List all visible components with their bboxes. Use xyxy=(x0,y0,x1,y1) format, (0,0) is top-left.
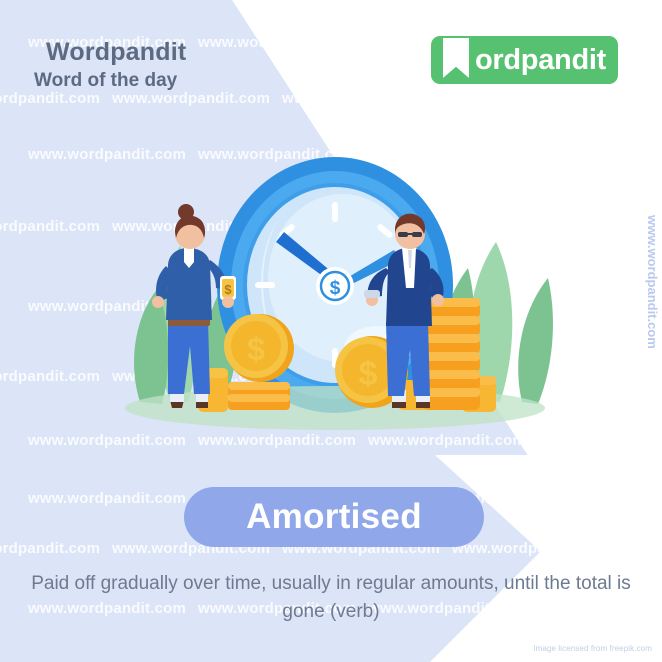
image-credit: Image licensed from freepik.com xyxy=(533,644,652,653)
svg-text:$: $ xyxy=(247,331,265,367)
definition-text: Paid off gradually over time, usually in… xyxy=(26,570,636,626)
brand-title: Wordpandit xyxy=(46,38,186,67)
definition-line-1: Paid off gradually over time, usually in… xyxy=(31,573,570,594)
wordpandit-logo[interactable]: ordpandit xyxy=(431,36,618,84)
svg-text:$: $ xyxy=(359,355,378,393)
card-header: Wordpandit Word of the day ordpandit xyxy=(0,0,662,110)
word-text: Amortised xyxy=(246,497,422,537)
word-of-the-day-card: www.wordpandit.com www.wordpandit.com ww… xyxy=(0,0,662,662)
illustration-clock-money: $ $ $ xyxy=(110,150,560,450)
svg-text:$: $ xyxy=(330,278,341,299)
bookmark-w-icon xyxy=(443,38,469,78)
word-pill: Amortised xyxy=(184,487,484,547)
brand-subtitle: Word of the day xyxy=(34,70,177,92)
logo-text: ordpandit xyxy=(475,46,606,75)
svg-text:$: $ xyxy=(224,282,232,297)
